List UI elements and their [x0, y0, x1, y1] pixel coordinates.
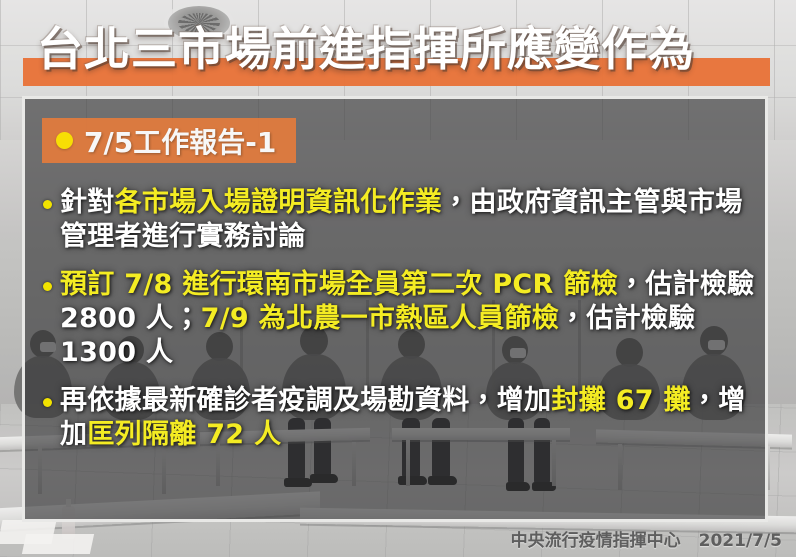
highlighted-text: 各市場入場證明資訊化作業: [115, 187, 443, 218]
highlighted-text: 封攤 67 攤: [551, 385, 690, 416]
subtitle-label: 7/5工作報告-1: [84, 121, 276, 161]
presentation-slide: 台北三市場前進指揮所應變作為 7/5工作報告-1 針對各市場入場證明資訊化作業，…: [0, 0, 796, 557]
subtitle-band: 7/5工作報告-1: [42, 118, 296, 163]
body-text: 針對: [60, 187, 115, 218]
list-item: 預訂 7/8 進行環南市場全員第二次 PCR 篩檢，估計檢驗 2800 人；7/…: [40, 268, 762, 370]
page-title: 台北三市場前進指揮所應變作為: [37, 18, 695, 80]
highlighted-text: 預訂 7/8 進行環南市場全員第二次 PCR 篩檢: [60, 269, 618, 300]
footer-date: 2021/7/5: [699, 531, 782, 551]
highlighted-text: 匡列隔離 72 人: [87, 419, 281, 450]
slide-title-area: 台北三市場前進指揮所應變作為: [23, 22, 770, 94]
paper: [22, 534, 94, 554]
highlighted-text: 7/9 為北農一市熱區人員篩檢: [201, 303, 559, 334]
body-text: 再依據最新確診者疫調及場勘資料，增加: [60, 385, 551, 416]
list-item: 再依據最新確診者疫調及場勘資料，增加封攤 67 攤，增加匡列隔離 72 人: [40, 384, 762, 452]
slide-footer: 中央流行疫情指揮中心 2021/7/5: [511, 526, 782, 551]
list-item: 針對各市場入場證明資訊化作業，由政府資訊主管與市場管理者進行實務討論: [40, 186, 762, 254]
footer-organization: 中央流行疫情指揮中心: [511, 526, 681, 551]
yellow-dot-icon: [56, 132, 73, 149]
bullet-list: 針對各市場入場證明資訊化作業，由政府資訊主管與市場管理者進行實務討論 預訂 7/…: [40, 186, 762, 466]
